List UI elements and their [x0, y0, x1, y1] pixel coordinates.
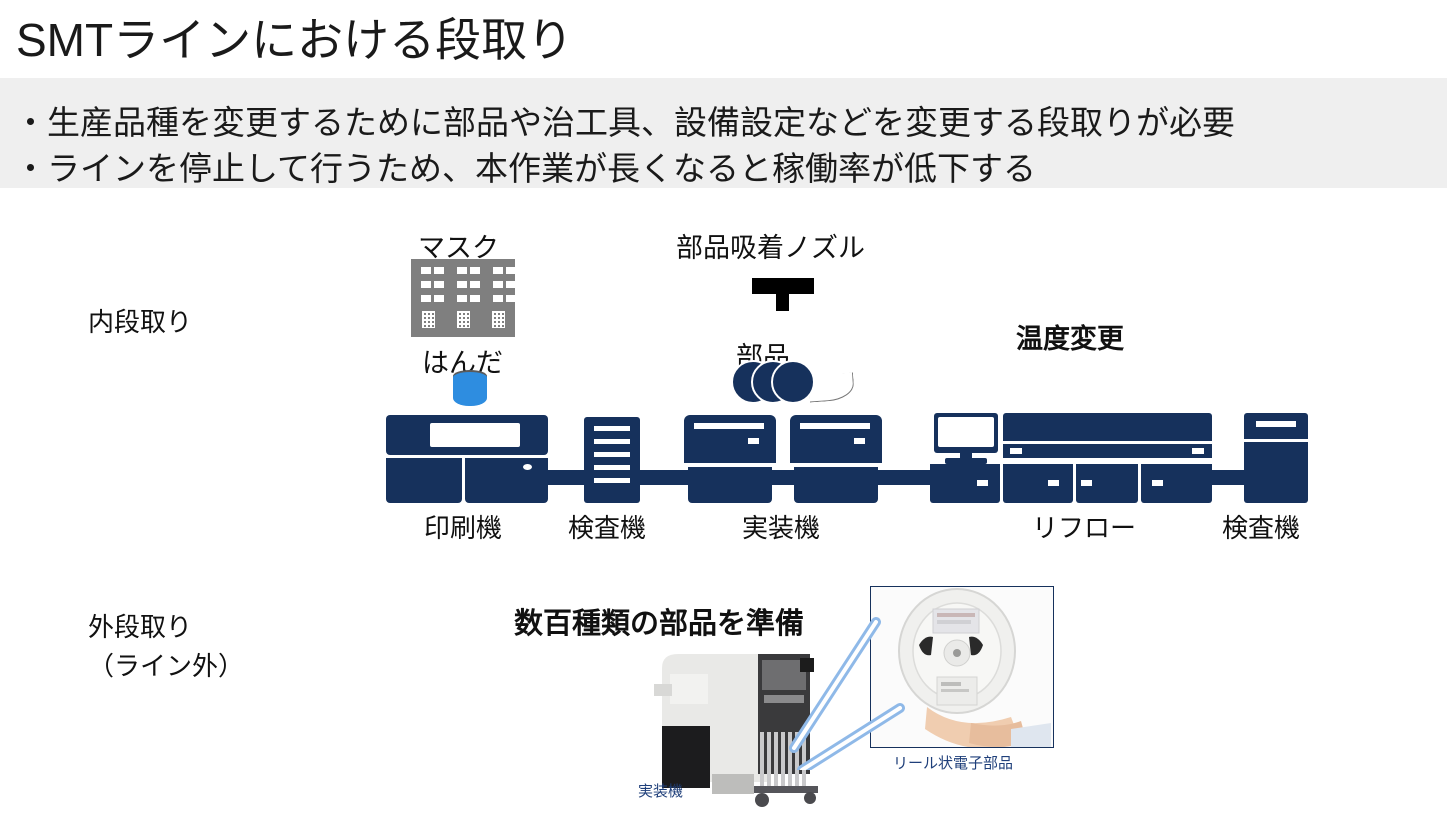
caption-reel-photo: リール状電子部品 [893, 752, 1013, 773]
nozzle-icon [752, 278, 814, 311]
caption-mounter-photo: 実装機 [638, 780, 683, 801]
bullet-item-1: ・生産品種を変更するために部品や治工具、設備設定などを変更する段取りが必要 [14, 96, 1235, 144]
pointer-arrows [780, 600, 910, 770]
slide: SMTラインにおける段取り ・生産品種を変更するために部品や治工具、設備設定など… [0, 0, 1447, 818]
machine-label-printer: 印刷機 [424, 508, 502, 545]
solder-pot-icon [453, 370, 487, 410]
page-title: SMTラインにおける段取り [16, 4, 573, 70]
row-label-inner-setup: 内段取り [88, 302, 192, 339]
machine-inspection-1 [584, 417, 640, 503]
machine-reflow-oven [924, 413, 1212, 503]
annotation-nozzle: 部品吸着ノズル [676, 226, 865, 265]
row-label-outer-setup: 外段取り （ライン外） [88, 608, 244, 686]
machine-label-inspection-1: 検査機 [568, 508, 646, 545]
machine-label-reflow: リフロー [1032, 508, 1136, 545]
machine-label-mounter: 実装機 [742, 508, 820, 545]
annotation-temperature: 温度変更 [1016, 317, 1124, 356]
machine-inspection-2 [1244, 413, 1308, 503]
parts-circles-icon [731, 360, 851, 405]
annotation-prepare-parts: 数百種類の部品を準備 [514, 600, 804, 642]
outer-setup-line-2: （ライン外） [88, 647, 244, 686]
bullet-item-2: ・ラインを停止して行うため、本作業が長くなると稼働率が低下する [14, 142, 1036, 190]
machine-mounter-1 [684, 415, 776, 503]
machine-label-inspection-2: 検査機 [1222, 508, 1300, 545]
mask-icon [411, 259, 515, 337]
machine-printer [386, 415, 548, 503]
outer-setup-line-1: 外段取り [88, 608, 244, 647]
machine-mounter-2 [790, 415, 882, 503]
